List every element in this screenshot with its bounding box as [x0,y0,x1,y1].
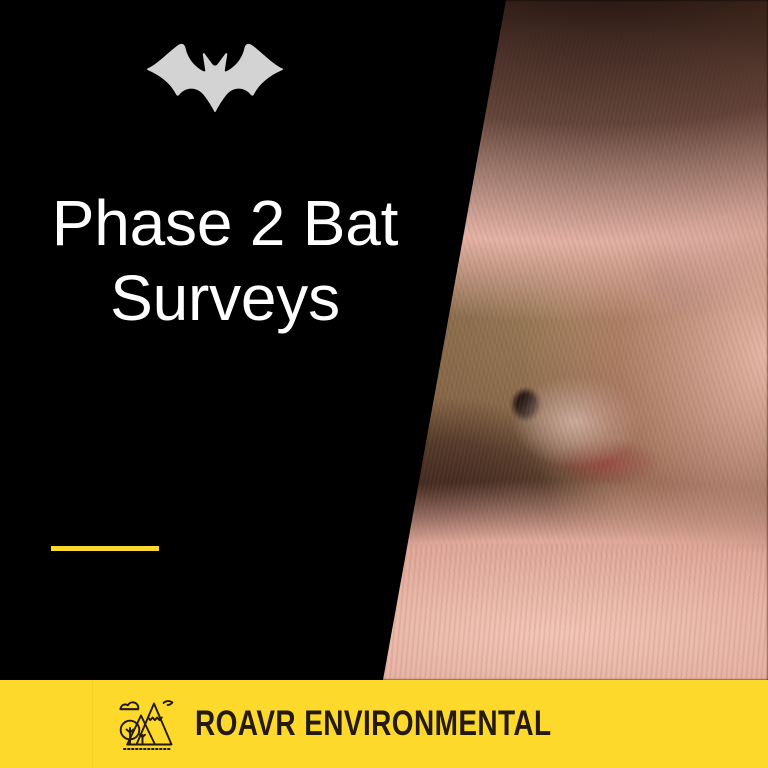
poster-canvas: Phase 2 Bat Surveys [0,0,768,768]
bat-silhouette-icon [147,40,283,112]
mountain-tree-cloud-bird-logo-icon [115,695,181,753]
photo-fingerprint-texture [346,544,768,680]
page-title: Phase 2 Bat Surveys [10,186,440,336]
brand-lockup: ROAVR ENVIRONMENTAL [115,695,641,753]
footer-bar: ROAVR ENVIRONMENTAL [0,680,768,768]
brand-name: ROAVR ENVIRONMENTAL [195,704,552,744]
accent-divider [51,546,159,551]
